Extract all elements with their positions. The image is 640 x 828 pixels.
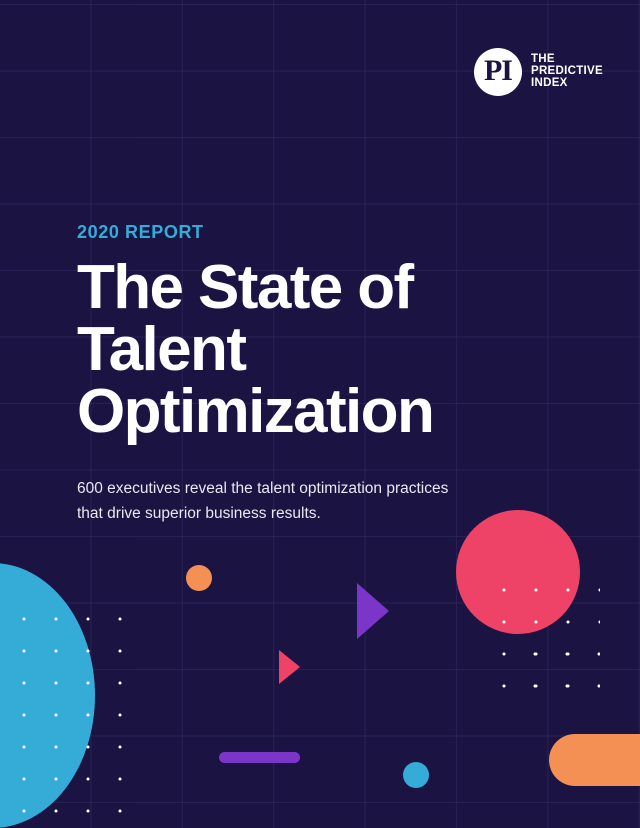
pink-triangle <box>279 650 300 684</box>
orange-pill <box>549 734 640 786</box>
logo-mark-circle: PI <box>474 48 522 96</box>
small-orange-circle <box>186 565 212 591</box>
report-eyebrow: 2020 REPORT <box>77 222 597 243</box>
report-cover: PI THE PREDICTIVE INDEX 2020 REPORT The … <box>0 0 640 828</box>
predictive-index-logo: PI THE PREDICTIVE INDEX <box>474 48 603 96</box>
page-subtitle: 600 executives reveal the talent optimiz… <box>77 476 497 526</box>
page-title: The State of Talent Optimization <box>77 257 597 443</box>
cover-text-block: 2020 REPORT The State of Talent Optimiza… <box>77 222 597 526</box>
dot-pattern-right-lower <box>519 638 599 702</box>
logo-wordmark: THE PREDICTIVE INDEX <box>531 54 603 89</box>
small-cyan-circle <box>403 762 429 788</box>
purple-triangle <box>357 583 389 639</box>
purple-bar <box>219 752 300 763</box>
dot-pattern-left <box>8 603 148 828</box>
logo-word-line-3: INDEX <box>531 78 603 90</box>
logo-monogram: PI <box>484 56 512 86</box>
